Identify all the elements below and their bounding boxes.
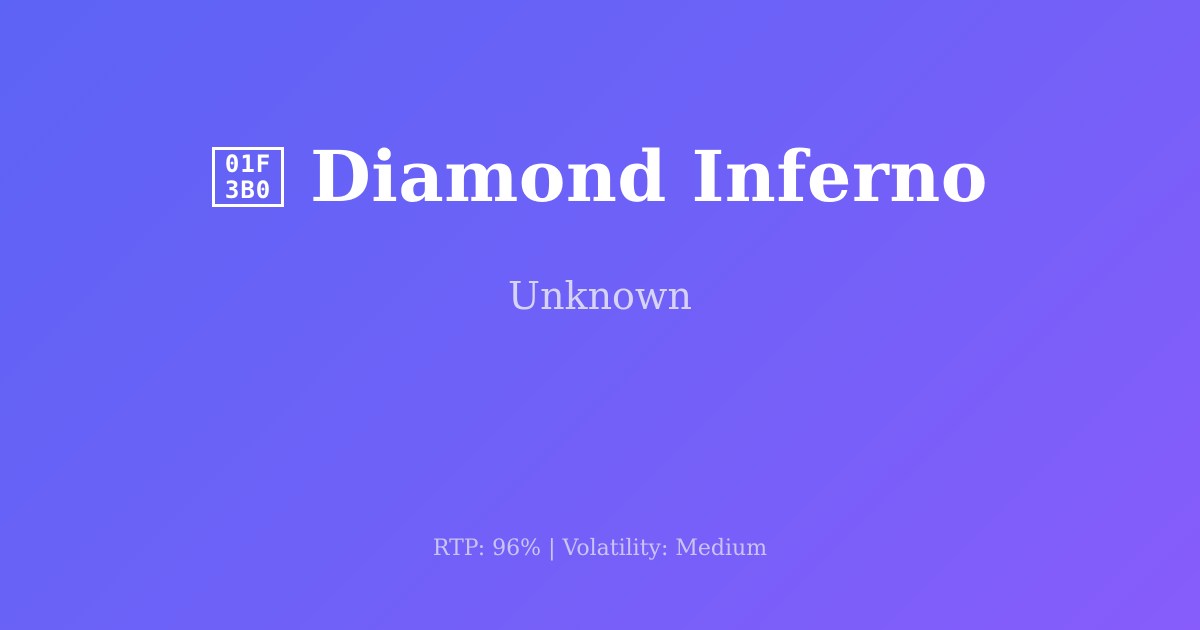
- slot-machine-icon-codepoint-bottom: 3B0: [225, 177, 271, 203]
- og-card: 01F 3B0 Diamond Inferno Unknown RTP: 96%…: [0, 0, 1200, 630]
- card-center-block: 01F 3B0 Diamond Inferno Unknown: [0, 0, 1200, 460]
- title-row: 01F 3B0 Diamond Inferno: [212, 140, 988, 214]
- slot-machine-icon: 01F 3B0: [212, 147, 284, 207]
- page-title: Diamond Inferno: [310, 140, 988, 214]
- provider-name: Unknown: [508, 274, 692, 320]
- slot-machine-icon-codepoint-top: 01F: [225, 151, 271, 177]
- game-meta-line: RTP: 96% | Volatility: Medium: [0, 535, 1200, 564]
